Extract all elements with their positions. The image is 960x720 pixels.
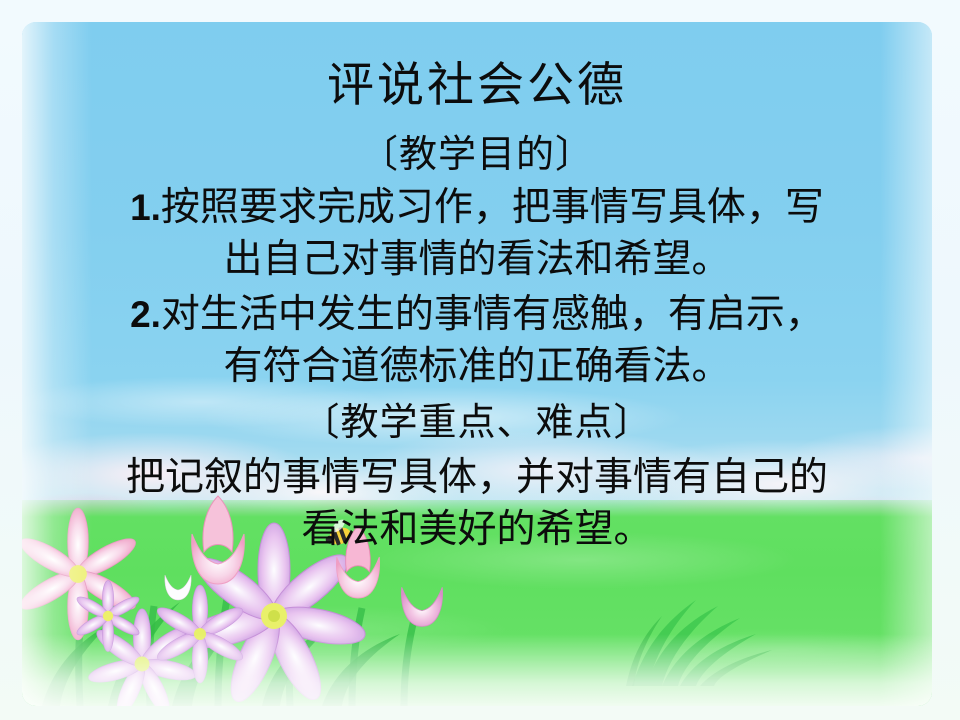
objective-2-line-2: 有符合道德标准的正确看法。 bbox=[36, 341, 918, 393]
presentation-page: 评说社会公德 〔教学目的〕 1.按照要求完成习作，把事情写具体，写 出自己对事情… bbox=[0, 0, 960, 720]
slide: 评说社会公德 〔教学目的〕 1.按照要求完成习作，把事情写具体，写 出自己对事情… bbox=[22, 22, 932, 706]
focus-line-1: 把记叙的事情写具体，并对事情有自己的 bbox=[36, 452, 918, 504]
objective-1-line-1: 按照要求完成习作，把事情写具体，写 bbox=[161, 186, 824, 229]
objective-1-line-2: 出自己对事情的看法和希望。 bbox=[36, 234, 918, 286]
section-heading-focus: 〔教学重点、难点〕 bbox=[22, 400, 932, 446]
focus-line-2: 看法和美好的希望。 bbox=[36, 504, 918, 556]
objective-2-line-1: 对生活中发生的事情有感触，有启示， bbox=[161, 293, 824, 336]
objective-2-number: 2. bbox=[130, 294, 161, 335]
focus-paragraph: 把记叙的事情写具体，并对事情有自己的 看法和美好的希望。 bbox=[22, 452, 932, 556]
slide-text-body: 评说社会公德 〔教学目的〕 1.按照要求完成习作，把事情写具体，写 出自己对事情… bbox=[22, 22, 932, 706]
objective-item-1: 1.按照要求完成习作，把事情写具体，写 出自己对事情的看法和希望。 bbox=[22, 182, 932, 286]
section-heading-objectives: 〔教学目的〕 bbox=[22, 132, 932, 178]
slide-title: 评说社会公德 bbox=[22, 58, 932, 114]
objective-item-2: 2.对生活中发生的事情有感触，有启示， 有符合道德标准的正确看法。 bbox=[22, 289, 932, 393]
objective-1-number: 1. bbox=[130, 187, 161, 228]
